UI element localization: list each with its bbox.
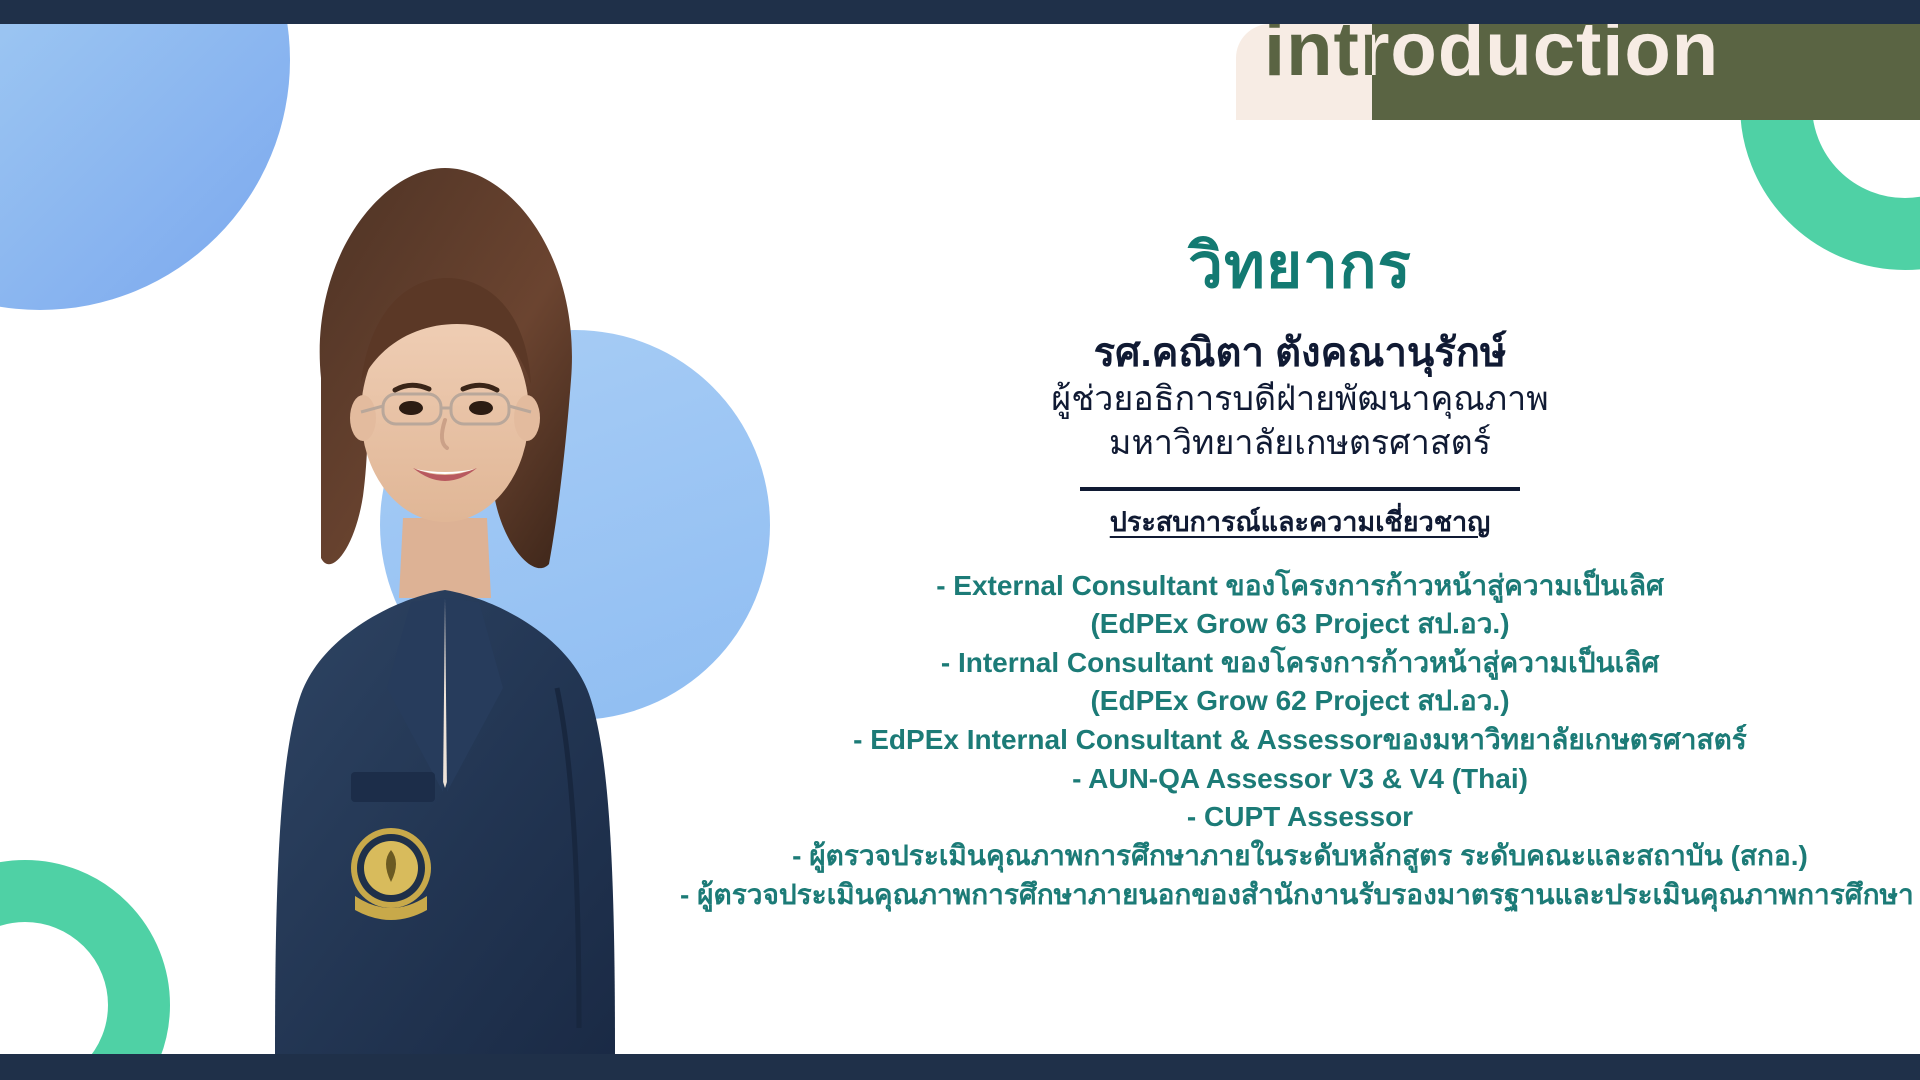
list-item: (EdPEx Grow 63 Project สป.อว.)	[680, 605, 1920, 644]
bottom-navy-bar	[0, 1054, 1920, 1080]
speaker-role-line-1: ผู้ช่วยอธิการบดีฝ่ายพัฒนาคุณภาพ	[680, 378, 1920, 422]
section-divider	[1080, 487, 1520, 491]
page-title: วิทยากร	[680, 230, 1920, 304]
list-item: - External Consultant ของโครงการก้าวหน้า…	[680, 567, 1920, 606]
speaker-role-line-2: มหาวิทยาลัยเกษตรศาสตร์	[680, 422, 1920, 466]
section-label-experience: ประสบการณ์และความเชี่ยวชาญ	[680, 505, 1920, 540]
list-item: (EdPEx Grow 62 Project สป.อว.)	[680, 682, 1920, 721]
list-item: - EdPEx Internal Consultant & Assessorขอ…	[680, 721, 1920, 760]
title-text-inverse-mask: introduction	[1236, 24, 1372, 120]
list-item: - AUN-QA Assessor V3 & V4 (Thai)	[680, 760, 1920, 799]
list-item: - ผู้ตรวจประเมินคุณภาพการศึกษาภายในระดับ…	[680, 837, 1920, 876]
slide-canvas: introduction introduction วิทยากร รศ.คณิ…	[0, 0, 1920, 1080]
list-item: - CUPT Assessor	[680, 798, 1920, 837]
content-column: วิทยากร รศ.คณิตา ตังคณานุรักษ์ ผู้ช่วยอธ…	[680, 230, 1920, 914]
speaker-portrait	[205, 128, 685, 1054]
experience-list: - External Consultant ของโครงการก้าวหน้า…	[680, 567, 1920, 915]
speaker-name: รศ.คณิตา ตังคณานุรักษ์	[680, 328, 1920, 378]
list-item: - ผู้ตรวจประเมินคุณภาพการศึกษาภายนอกของส…	[680, 876, 1920, 915]
list-item: - Internal Consultant ของโครงการก้าวหน้า…	[680, 644, 1920, 683]
top-navy-bar	[0, 0, 1920, 24]
slide-title-text-inverse: introduction	[1264, 24, 1372, 98]
decor-green-ring-bottom-left	[0, 860, 170, 1080]
